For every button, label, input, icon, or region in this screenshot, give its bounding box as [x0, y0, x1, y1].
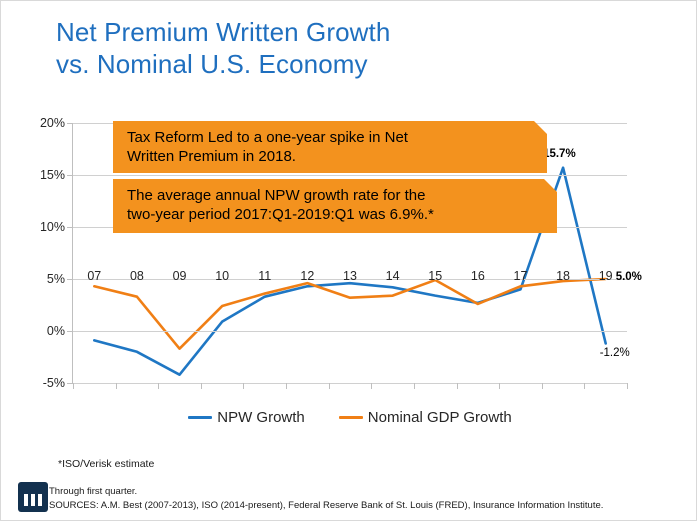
logo-bar-1 [24, 494, 28, 506]
y-tick-mark [67, 227, 73, 228]
logo-bar-2 [31, 494, 35, 506]
x-tick-mark [158, 383, 159, 389]
callout-tax-reform: Tax Reform Led to a one-year spike in Ne… [113, 121, 547, 173]
legend-swatch-gdp [339, 416, 363, 419]
x-tick-mark [73, 383, 74, 389]
x-tick-mark [542, 383, 543, 389]
y-tick-mark [67, 279, 73, 280]
x-tick-mark [286, 383, 287, 389]
x-tick-mark [627, 383, 628, 389]
legend-item-nominal-gdp-growth: Nominal GDP Growth [339, 409, 512, 426]
x-axis-label: 13 [330, 269, 370, 283]
x-tick-mark [499, 383, 500, 389]
line-nominal-gdp-growth [94, 279, 605, 349]
x-axis-label: 17 [500, 269, 540, 283]
slide-container: Net Premium Written Growth vs. Nominal U… [0, 0, 697, 521]
x-axis-label: 16 [458, 269, 498, 283]
x-axis-label: 14 [373, 269, 413, 283]
gridline [73, 383, 627, 384]
x-tick-mark [243, 383, 244, 389]
data-label-peak: 15.7% [543, 148, 576, 160]
sources-note: SOURCES: A.M. Best (2007-2013), ISO (201… [49, 499, 679, 513]
iii-logo [18, 482, 48, 512]
legend-item-npw-growth: NPW Growth [188, 409, 305, 426]
legend-swatch-npw [188, 416, 212, 419]
x-tick-mark [584, 383, 585, 389]
legend-label-gdp: Nominal GDP Growth [368, 409, 512, 426]
data-label-gdp-end: 5.0% [616, 271, 642, 283]
y-tick-mark [67, 331, 73, 332]
estimate-footnote: *ISO/Verisk estimate [58, 458, 154, 470]
x-tick-mark [329, 383, 330, 389]
gridline [73, 175, 627, 176]
x-tick-mark [116, 383, 117, 389]
y-axis-label: 15% [19, 168, 65, 182]
x-axis-label: 12 [287, 269, 327, 283]
x-tick-mark [371, 383, 372, 389]
x-axis-label: 09 [160, 269, 200, 283]
callout-average-growth: The average annual NPW growth rate for t… [113, 179, 557, 233]
gridline [73, 331, 627, 332]
chart-legend: NPW Growth Nominal GDP Growth [73, 409, 627, 426]
y-axis-label: 10% [19, 220, 65, 234]
x-axis-label: 07 [74, 269, 114, 283]
y-tick-mark [67, 123, 73, 124]
x-axis-label: 10 [202, 269, 242, 283]
x-tick-mark [414, 383, 415, 389]
y-axis-label: 20% [19, 116, 65, 130]
y-tick-mark [67, 175, 73, 176]
x-tick-mark [201, 383, 202, 389]
through-first-quarter-note: Through first quarter. [49, 485, 679, 499]
x-axis-label: 08 [117, 269, 157, 283]
logo-bar-3 [38, 494, 42, 506]
x-axis-label: 11 [245, 269, 285, 283]
y-axis-label: 0% [19, 324, 65, 338]
x-tick-mark [457, 383, 458, 389]
legend-label-npw: NPW Growth [217, 409, 305, 426]
x-axis-label: 15 [415, 269, 455, 283]
y-axis-label: -5% [19, 376, 65, 390]
y-axis-label: 5% [19, 272, 65, 286]
data-label-npw-end: -1.2% [600, 347, 630, 359]
footer-notes: Through first quarter. SOURCES: A.M. Bes… [49, 485, 679, 513]
x-axis-label: 18 [543, 269, 583, 283]
